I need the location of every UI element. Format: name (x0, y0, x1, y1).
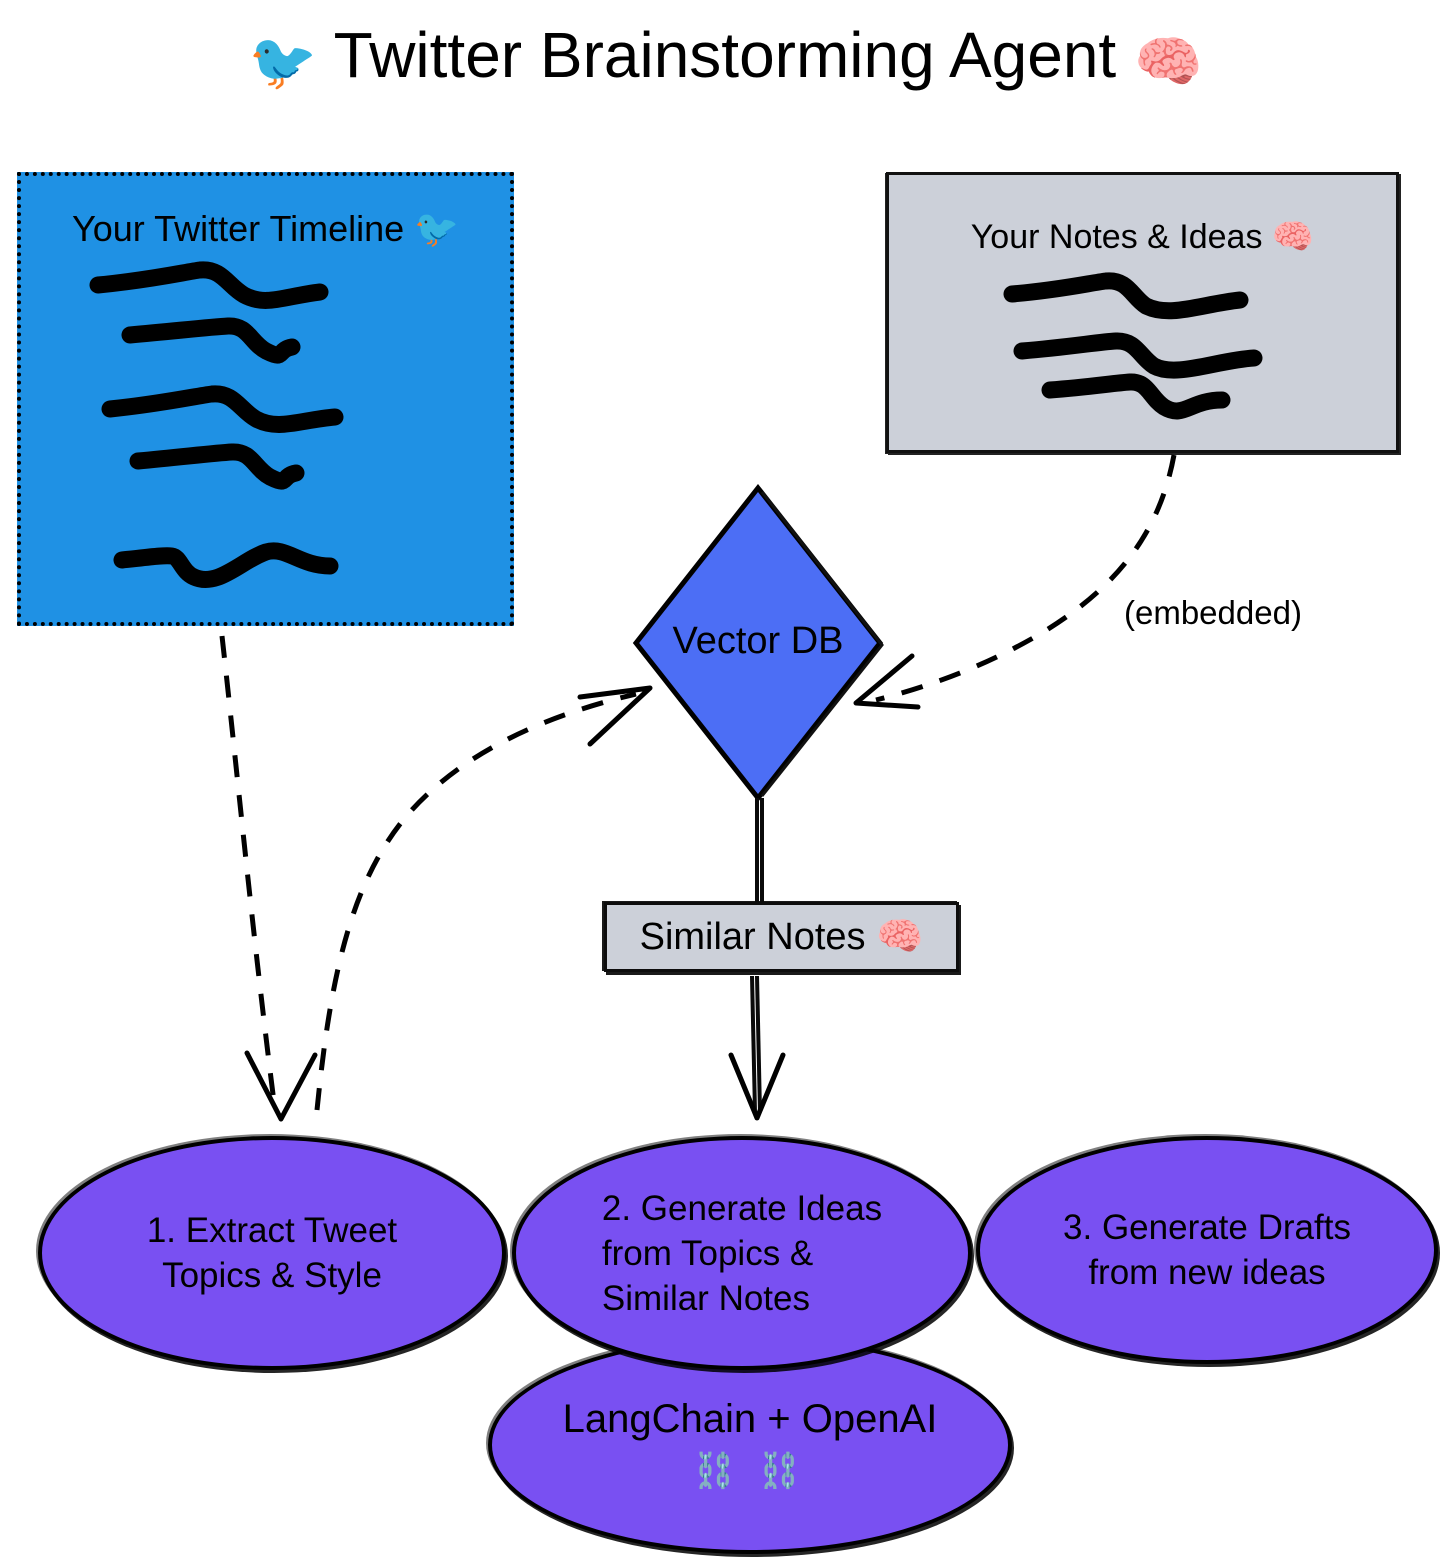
chain-icon: ⛓️ ⛓️ (563, 1445, 938, 1497)
vector-db-node[interactable]: Vector DB (632, 484, 884, 802)
edge-timeline-to-vectordb (317, 694, 636, 1110)
langchain-openai-text: LangChain + OpenAI ⛓️ ⛓️ (537, 1341, 964, 1549)
arrow-head-step2 (731, 1055, 783, 1118)
twitter-timeline-label: Your Twitter Timeline 🐦 (21, 208, 510, 250)
brain-icon: 🧠 (1134, 29, 1203, 93)
edge-notes-to-vectordb (876, 455, 1174, 700)
vector-db-label: Vector DB (632, 620, 884, 663)
similar-notes-box[interactable]: Similar Notes 🧠 (604, 902, 959, 972)
langchain-openai-label: LangChain + OpenAI (563, 1397, 938, 1441)
step-2-generate-ideas[interactable]: 2. Generate Ideas from Topics & Similar … (512, 1136, 972, 1370)
page-title-text: Twitter Brainstorming Agent (334, 19, 1117, 91)
diagram-canvas: 🐦 Twitter Brainstorming Agent 🧠 Your Twi… (0, 0, 1451, 1562)
bird-icon: 🐦 (248, 29, 317, 93)
step-3-generate-drafts[interactable]: 3. Generate Drafts from new ideas (976, 1136, 1438, 1364)
edge-timeline-to-step1 (222, 636, 275, 1110)
step-1-label: 1. Extract Tweet Topics & Style (121, 1208, 423, 1298)
similar-notes-label: Similar Notes 🧠 (640, 915, 924, 959)
step-2-label: 2. Generate Ideas from Topics & Similar … (576, 1186, 908, 1321)
embedded-annotation: (embedded) (1124, 594, 1302, 632)
edge-similar-notes-to-step2 (752, 976, 755, 1112)
page-title: 🐦 Twitter Brainstorming Agent 🧠 (0, 16, 1451, 100)
step-1-extract-tweet-topics[interactable]: 1. Extract Tweet Topics & Style (38, 1136, 506, 1370)
twitter-timeline-box[interactable]: Your Twitter Timeline 🐦 (17, 172, 514, 626)
notes-and-ideas-label: Your Notes & Ideas 🧠 (889, 217, 1396, 257)
arrow-head-step1 (247, 1053, 315, 1119)
edge-similar-notes-to-step2-shadow (757, 976, 760, 1112)
notes-and-ideas-box[interactable]: Your Notes & Ideas 🧠 (886, 172, 1399, 453)
step-3-label: 3. Generate Drafts from new ideas (1037, 1205, 1377, 1295)
